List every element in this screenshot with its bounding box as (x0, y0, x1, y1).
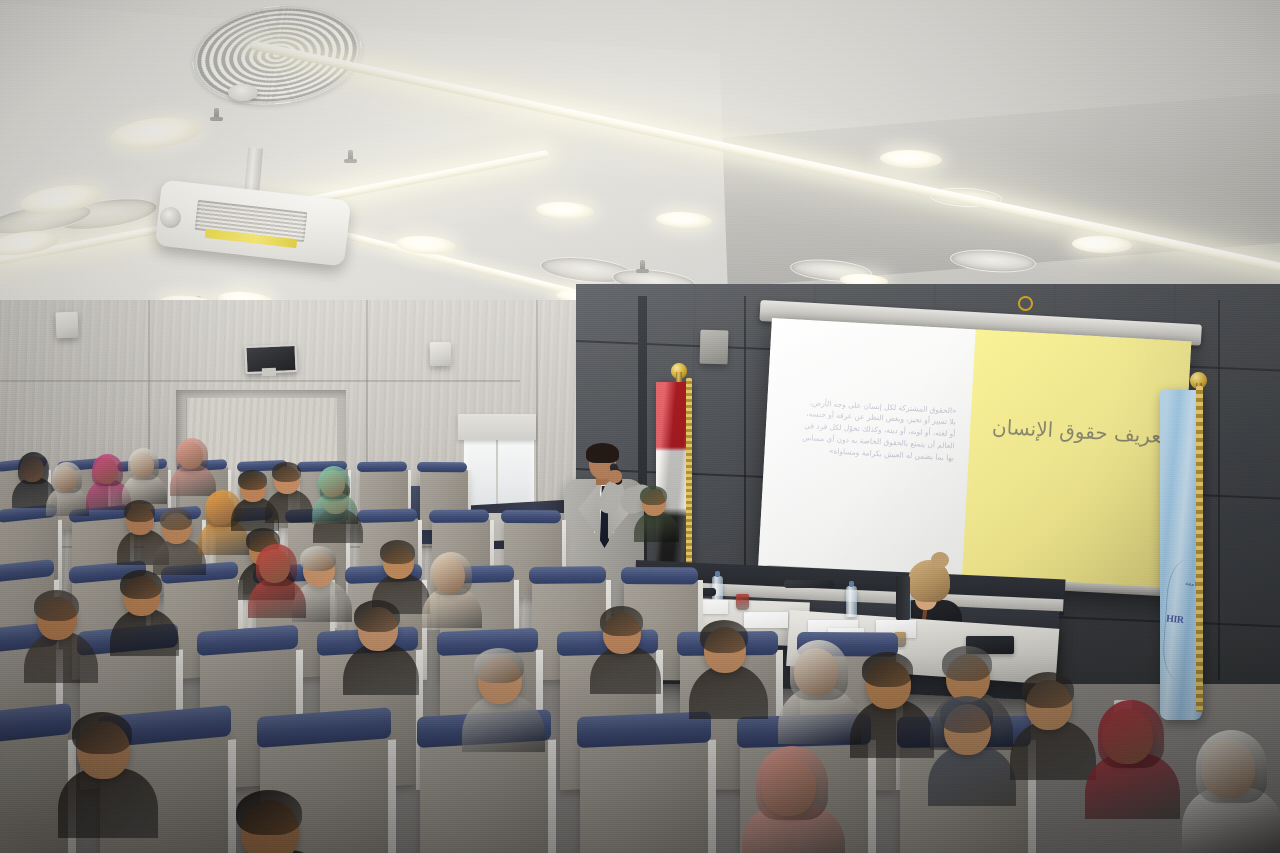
seat-side-edge (708, 740, 716, 853)
slide-body-panel: «الحقوق المشتركة لكل إنسان على وجه الأرض… (758, 318, 976, 584)
moderator-hair-bun (931, 552, 949, 568)
pull-down-projection-screen: «الحقوق المشتركة لكل إنسان على وجه الأرض… (758, 318, 1192, 596)
sprinkler-head (348, 150, 353, 162)
audience-hijab (256, 544, 297, 586)
auditorium-seat[interactable] (580, 735, 708, 853)
audience-hair (72, 712, 132, 754)
sprinkler-head (214, 108, 219, 120)
seat-headrest (417, 462, 467, 472)
audience-hair (380, 540, 415, 564)
audience-hair (238, 470, 267, 490)
audience-hijab (790, 640, 848, 700)
audience-hair (120, 570, 162, 599)
audience-hijab (318, 466, 350, 499)
seat-headrest (621, 567, 698, 584)
audience-hair (272, 462, 301, 482)
audience-hair (474, 648, 524, 683)
smoke-detector (228, 84, 258, 101)
audience-hijab (430, 552, 472, 595)
audience-hair (1022, 672, 1074, 708)
water-bottle (846, 586, 857, 617)
monitor-mount-arm (262, 368, 276, 377)
lecture-hall-photo: «الحقوق المشتركة لكل إنسان على وجه الأرض… (0, 0, 1280, 853)
audience-hair (34, 590, 79, 621)
seat-side-edge (388, 739, 396, 853)
audience-hijab (92, 454, 123, 486)
audience-hair (600, 606, 643, 636)
audience-hair (160, 508, 192, 530)
audience-hair (354, 600, 400, 632)
seat-headrest (357, 461, 407, 472)
seat-headrest (501, 510, 561, 523)
presentation-slide: «الحقوق المشتركة لكل إنسان على وجه الأرض… (758, 318, 1192, 596)
presenter-left-hand (608, 470, 622, 483)
presenter-hair (586, 443, 619, 463)
seat-side-edge (548, 740, 556, 853)
wall-speaker (430, 342, 451, 366)
slide-title-panel: تَعريف حقوق الإنسان . (961, 329, 1191, 596)
paper-stack (744, 612, 788, 628)
audience-hair (862, 652, 913, 687)
coffee-cup (736, 594, 749, 610)
microphone (896, 576, 910, 620)
audience-hijab (1196, 730, 1267, 803)
slide-title-text: تَعريف حقوق الإنسان . (987, 412, 1167, 480)
audience-hijab (176, 438, 208, 471)
audience-hair (300, 546, 336, 571)
flag-gold-fringe (1196, 386, 1203, 712)
audience-hair (940, 696, 993, 733)
audience-hijab (756, 746, 828, 820)
seat-side-edge (228, 739, 236, 853)
slide-body-text: «الحقوق المشتركة لكل إنسان على وجه الأرض… (799, 396, 957, 464)
audience-hair (124, 500, 155, 522)
microphone (784, 580, 834, 588)
audience-hijab (18, 452, 49, 484)
audience-hair (700, 620, 748, 653)
audience-hijab (128, 448, 159, 480)
wall-speaker (56, 312, 79, 339)
sprinkler-head (640, 260, 645, 272)
seat-headrest (429, 509, 489, 523)
audience-hair (942, 646, 992, 681)
audience-hair (236, 790, 302, 835)
audience-hair (640, 486, 667, 505)
seat-headrest (529, 566, 606, 584)
audience-hijab (1098, 700, 1164, 768)
seat-headrest (357, 508, 417, 523)
audience-hijab (52, 462, 82, 493)
window-roller-blind[interactable] (458, 414, 536, 440)
